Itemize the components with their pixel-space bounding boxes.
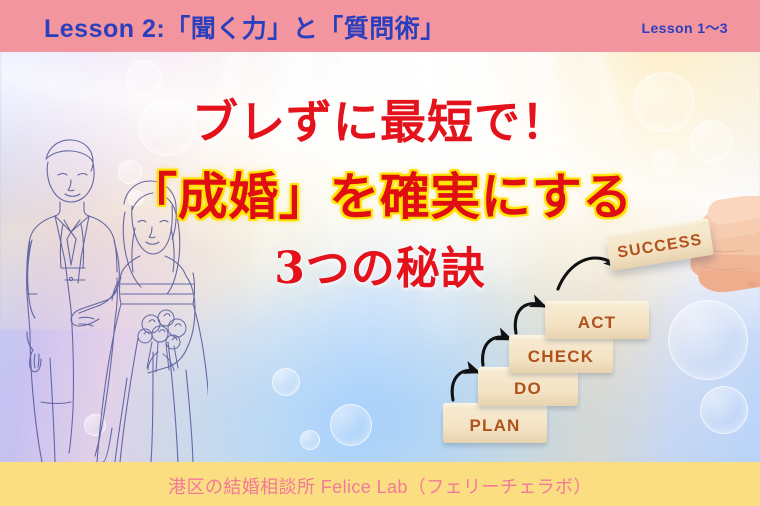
- header-lesson-range: Lesson 1〜3: [642, 18, 728, 38]
- block-do-label: DO: [514, 379, 542, 399]
- lesson-slide: PLAN DO CHECK ACT SUCCESS ブレずに最短で！ 「成婚」を…: [0, 0, 760, 506]
- block-check[interactable]: CHECK: [509, 340, 613, 373]
- block-plan[interactable]: PLAN: [443, 408, 547, 443]
- footer-brand-text: 港区の結婚相談所 Felice Lab（フェリーチェラボ）: [0, 473, 760, 499]
- block-check-label: CHECK: [528, 347, 594, 367]
- header-band: Lesson 2:「聞く力」と「質問術」 Lesson 1〜3: [0, 0, 760, 52]
- block-do[interactable]: DO: [478, 372, 578, 406]
- header-title: Lesson 2:「聞く力」と「質問術」: [44, 9, 446, 45]
- headline-line-2: 「成婚」を確実にする: [0, 157, 760, 229]
- block-plan-label: PLAN: [469, 416, 520, 436]
- block-act-label: ACT: [578, 313, 617, 333]
- headline-line-3: 3つの秘訣: [0, 232, 760, 296]
- block-act[interactable]: ACT: [545, 306, 649, 339]
- block-act-top-face: [545, 301, 649, 307]
- headline-line-1: ブレずに最短で！: [0, 86, 760, 152]
- footer-band: 港区の結婚相談所 Felice Lab（フェリーチェラボ）: [0, 462, 760, 506]
